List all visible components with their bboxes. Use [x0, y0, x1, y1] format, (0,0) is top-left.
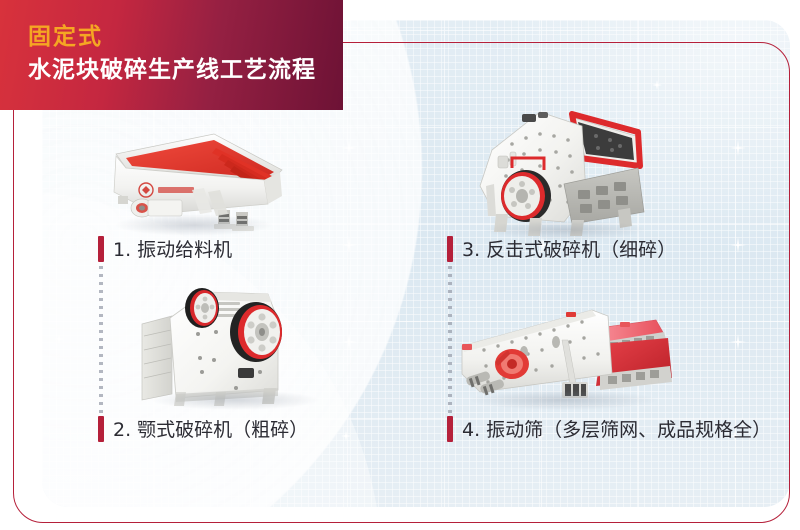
banner-title-secondary: 水泥块破碎生产线工艺流程 — [28, 58, 316, 81]
impact-crusher-illustration — [468, 100, 658, 240]
step-1-text: 1. 振动给料机 — [113, 235, 232, 262]
connector-dotted-line-left — [99, 266, 103, 416]
step-4-text: 4. 振动筛（多层筛网、成品规格全） — [462, 415, 771, 442]
step-1-label[interactable]: 1. 振动给料机 — [98, 235, 232, 262]
step-marker-bar — [98, 236, 104, 262]
step-marker-bar — [447, 236, 453, 262]
machine-image-vibrating-feeder — [96, 118, 286, 238]
step-3-text: 3. 反击式破碎机（细碎） — [462, 235, 676, 262]
machine-image-impact-crusher — [468, 100, 658, 240]
step-2-label[interactable]: 2. 颚式破碎机（粗碎） — [98, 415, 308, 442]
title-banner: 固定式 水泥块破碎生产线工艺流程 — [0, 0, 343, 110]
step-3-label[interactable]: 3. 反击式破碎机（细碎） — [447, 235, 676, 262]
machine-image-vibrating-screen — [450, 282, 675, 410]
jaw-crusher-illustration — [140, 272, 330, 408]
flowchart-poster: 1. 振动给料机 — [0, 0, 800, 530]
banner-title-primary: 固定式 — [28, 25, 103, 48]
step-4-label[interactable]: 4. 振动筛（多层筛网、成品规格全） — [447, 415, 771, 442]
step-marker-bar — [98, 416, 104, 442]
machine-image-jaw-crusher — [140, 272, 330, 408]
step-marker-bar — [447, 416, 453, 442]
step-2-text: 2. 颚式破碎机（粗碎） — [113, 415, 308, 442]
